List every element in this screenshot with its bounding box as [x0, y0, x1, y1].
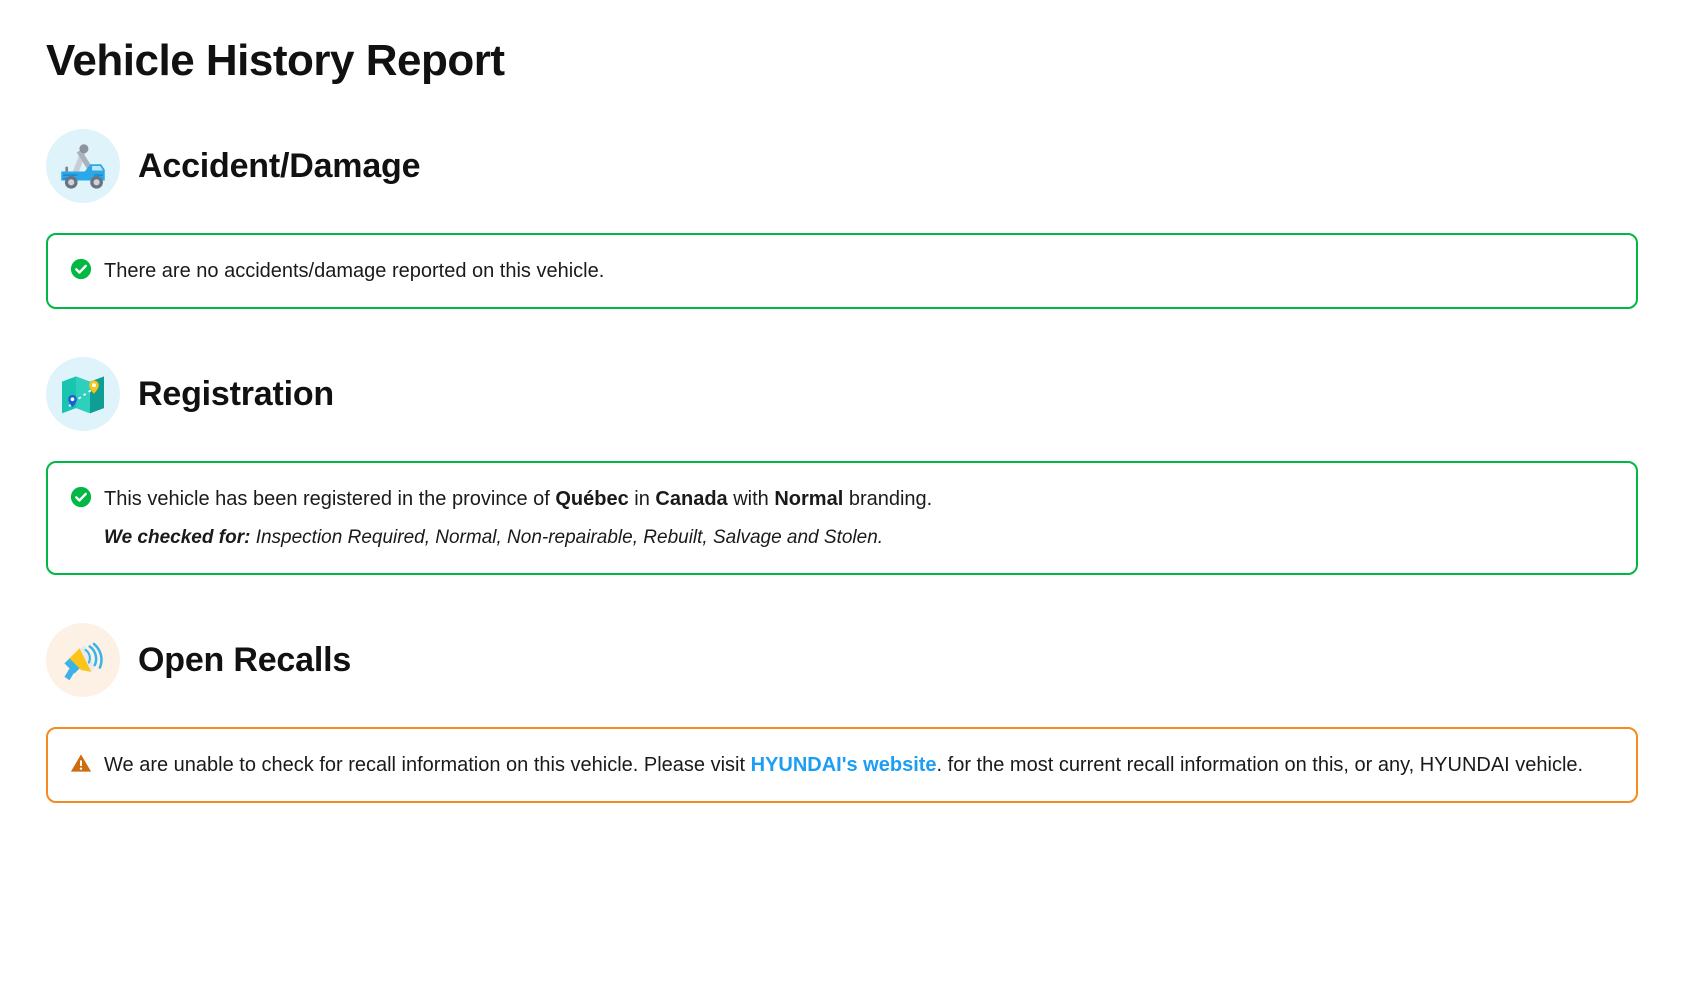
registration-province: Québec — [555, 488, 628, 510]
warning-triangle-icon — [70, 752, 92, 774]
registration-text-part-1: This vehicle has been registered in the … — [104, 488, 555, 510]
section-title-registration: Registration — [138, 377, 334, 411]
registration-checked-for: We checked for: Inspection Required, Nor… — [70, 524, 1614, 553]
tow-truck-icon — [46, 129, 120, 203]
page-title: Vehicle History Report — [46, 22, 1638, 87]
alert-text-registration: This vehicle has been registered in the … — [104, 483, 932, 515]
checked-for-label: We checked for: — [104, 527, 250, 548]
registration-branding: Normal — [774, 488, 843, 510]
section-open-recalls: Open Recalls We are unable to check for … — [46, 623, 1638, 803]
map-icon — [46, 357, 120, 431]
section-title-accident-damage: Accident/Damage — [138, 149, 420, 183]
alert-text-open-recalls: We are unable to check for recall inform… — [104, 749, 1583, 781]
check-circle-icon — [70, 258, 92, 280]
checked-for-values: Inspection Required, Normal, Non-repaira… — [250, 527, 883, 548]
registration-text-part-2: in — [629, 488, 656, 510]
recall-text-part-2: . for the most current recall informatio… — [937, 754, 1584, 776]
alert-open-recalls: We are unable to check for recall inform… — [46, 727, 1638, 803]
vehicle-history-report-page: Vehicle History Report — [0, 0, 1696, 803]
alert-accident-damage: There are no accidents/damage reported o… — [46, 233, 1638, 309]
section-header-registration: Registration — [46, 357, 1638, 431]
alert-text-accident-damage: There are no accidents/damage reported o… — [104, 255, 604, 287]
registration-text-part-4: branding. — [843, 488, 932, 510]
registration-text-part-3: with — [728, 488, 775, 510]
registration-country: Canada — [655, 488, 727, 510]
megaphone-icon — [46, 623, 120, 697]
section-header-open-recalls: Open Recalls — [46, 623, 1638, 697]
section-registration: Registration This vehicle has been regis… — [46, 357, 1638, 575]
section-accident-damage: Accident/Damage There are no accidents/d… — [46, 129, 1638, 309]
section-header-accident-damage: Accident/Damage — [46, 129, 1638, 203]
check-circle-icon — [70, 486, 92, 508]
section-title-open-recalls: Open Recalls — [138, 643, 351, 677]
recall-text-part-1: We are unable to check for recall inform… — [104, 754, 751, 776]
alert-registration: This vehicle has been registered in the … — [46, 461, 1638, 575]
hyundai-website-link[interactable]: HYUNDAI's website — [751, 754, 937, 776]
